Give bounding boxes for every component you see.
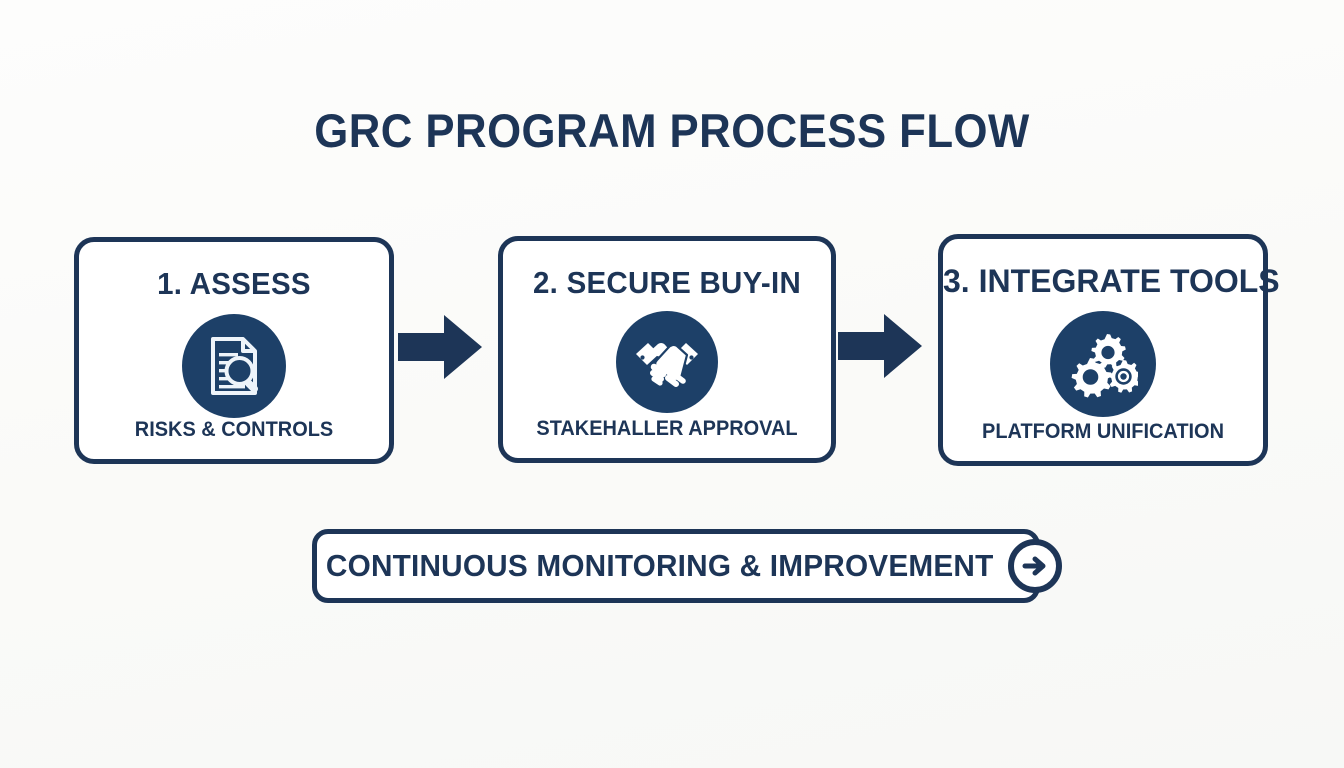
right-arrow-icon [836,302,924,390]
step-heading: 2. SECURE BUY-IN [511,265,823,301]
right-arrow-icon [396,303,484,391]
circle-arrow-right-icon[interactable] [1008,539,1062,593]
document-magnifier-icon [182,314,286,418]
step-card-integrate-tools[interactable]: 3. INTEGRATE TOOLS [938,234,1268,466]
step-heading: 3. INTEGRATE TOOLS [943,263,1263,299]
step-card-assess[interactable]: 1. ASSESS RISKS & CONTROLS [74,237,394,464]
step-subtitle: STAKEHALLER APPROVAL [511,416,823,441]
step-subtitle: RISKS & CONTROLS [87,417,382,442]
diagram-canvas: GRC PROGRAM PROCESS FLOW 1. ASSESS RISKS… [0,0,1344,768]
step-heading: 1. ASSESS [87,266,382,302]
gears-icon [1050,311,1156,417]
banner-label: CONTINUOUS MONITORING & IMPROVEMENT [331,534,1020,598]
step-card-secure-buy-in[interactable]: 2. SECURE BUY-IN STAKEHALL [498,236,836,463]
page-title: GRC PROGRAM PROCESS FLOW [47,103,1297,159]
continuous-monitoring-banner[interactable]: CONTINUOUS MONITORING & IMPROVEMENT [312,529,1040,603]
step-subtitle: PLATFORM UNIFICATION [951,419,1255,444]
handshake-icon [616,311,718,413]
